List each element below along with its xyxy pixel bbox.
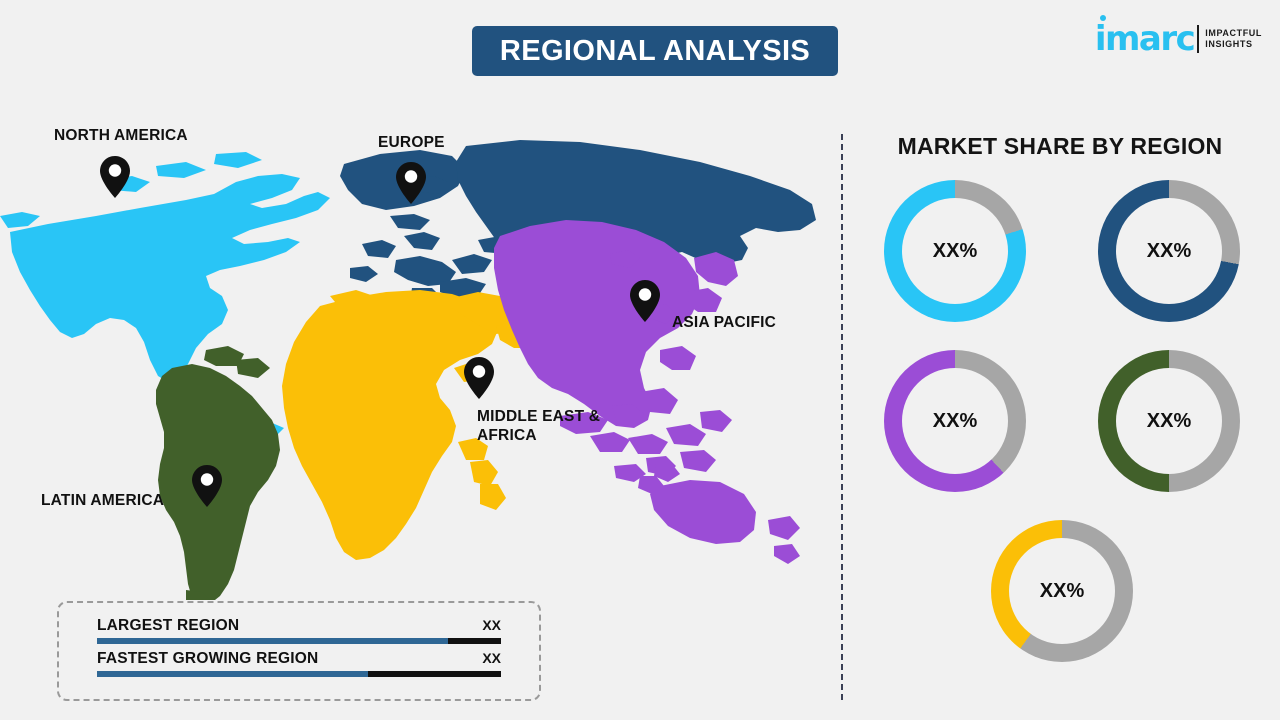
legend-label-fastest-growing-region: FASTEST GROWING REGION bbox=[97, 650, 318, 668]
legend-label-largest-region: LARGEST REGION bbox=[97, 617, 239, 635]
infographic-root: REGIONAL ANALYSIS imarc IMPACTFUL INSIGH… bbox=[0, 0, 1280, 720]
donut-europe: XX% bbox=[1098, 180, 1240, 322]
map-label-middle-east-africa: MIDDLE EAST & AFRICA bbox=[477, 407, 600, 446]
page-title: REGIONAL ANALYSIS bbox=[500, 35, 810, 68]
map-pin-latin-america[interactable] bbox=[192, 465, 222, 507]
market-share-donut-grid: XX% XX% XX% XX% bbox=[860, 180, 1264, 690]
donut-hole-asia-pacific: XX% bbox=[902, 368, 1008, 474]
logo-divider bbox=[1197, 25, 1199, 53]
donut-value-north-america: XX% bbox=[933, 240, 977, 263]
logo-tagline-line1: IMPACTFUL bbox=[1205, 28, 1262, 39]
donut-value-middle-east-africa: XX% bbox=[1040, 580, 1084, 603]
panel-divider bbox=[841, 134, 843, 700]
donut-hole-latin-america: XX% bbox=[1116, 368, 1222, 474]
map-label-latin-america: LATIN AMERICA bbox=[41, 491, 164, 510]
region-summary-box: LARGEST REGION XX FASTEST GROWING REGION… bbox=[57, 601, 541, 701]
imarc-logo: imarc IMPACTFUL INSIGHTS bbox=[1095, 22, 1262, 56]
donut-north-america: XX% bbox=[884, 180, 1026, 322]
legend-value-fastest-growing-region: XX bbox=[482, 650, 501, 666]
legend-value-largest-region: XX bbox=[482, 617, 501, 633]
donut-asia-pacific: XX% bbox=[884, 350, 1026, 492]
legend-bar-fill-fastest-growing-region bbox=[97, 671, 368, 677]
map-label-asia-pacific: ASIA PACIFIC bbox=[672, 313, 776, 332]
logo-tagline-line2: INSIGHTS bbox=[1205, 39, 1262, 50]
donut-value-latin-america: XX% bbox=[1147, 410, 1191, 433]
map-region-asia-pacific bbox=[494, 220, 800, 564]
donut-row-1: XX% XX% bbox=[860, 180, 1264, 322]
logo-wordmark: imarc bbox=[1095, 22, 1194, 56]
map-pin-asia-pacific[interactable] bbox=[630, 280, 660, 322]
map-pin-middle-east-africa[interactable] bbox=[464, 357, 494, 399]
legend-row-largest-region: LARGEST REGION XX bbox=[97, 617, 501, 644]
map-pin-north-america[interactable] bbox=[100, 156, 130, 198]
logo-text: imarc bbox=[1095, 19, 1194, 59]
map-label-europe: EUROPE bbox=[378, 133, 445, 152]
donut-middle-east-africa: XX% bbox=[991, 520, 1133, 662]
donut-row-2: XX% XX% bbox=[860, 350, 1264, 492]
legend-bar-fill-largest-region bbox=[97, 638, 448, 644]
page-title-banner: REGIONAL ANALYSIS bbox=[472, 26, 838, 76]
donut-value-asia-pacific: XX% bbox=[933, 410, 977, 433]
legend-bar-largest-region bbox=[97, 638, 501, 644]
legend-bar-fastest-growing-region bbox=[97, 671, 501, 677]
donut-value-europe: XX% bbox=[1147, 240, 1191, 263]
logo-tagline: IMPACTFUL INSIGHTS bbox=[1205, 28, 1262, 51]
donut-hole-europe: XX% bbox=[1116, 198, 1222, 304]
map-pin-europe[interactable] bbox=[396, 162, 426, 204]
logo-dot-icon bbox=[1100, 15, 1106, 21]
donut-hole-north-america: XX% bbox=[902, 198, 1008, 304]
donut-row-3: XX% bbox=[860, 520, 1264, 662]
market-share-title: MARKET SHARE BY REGION bbox=[860, 133, 1260, 160]
map-label-north-america: NORTH AMERICA bbox=[54, 126, 188, 145]
legend-row-fastest-growing-region: FASTEST GROWING REGION XX bbox=[97, 650, 501, 677]
donut-latin-america: XX% bbox=[1098, 350, 1240, 492]
donut-hole-middle-east-africa: XX% bbox=[1009, 538, 1115, 644]
